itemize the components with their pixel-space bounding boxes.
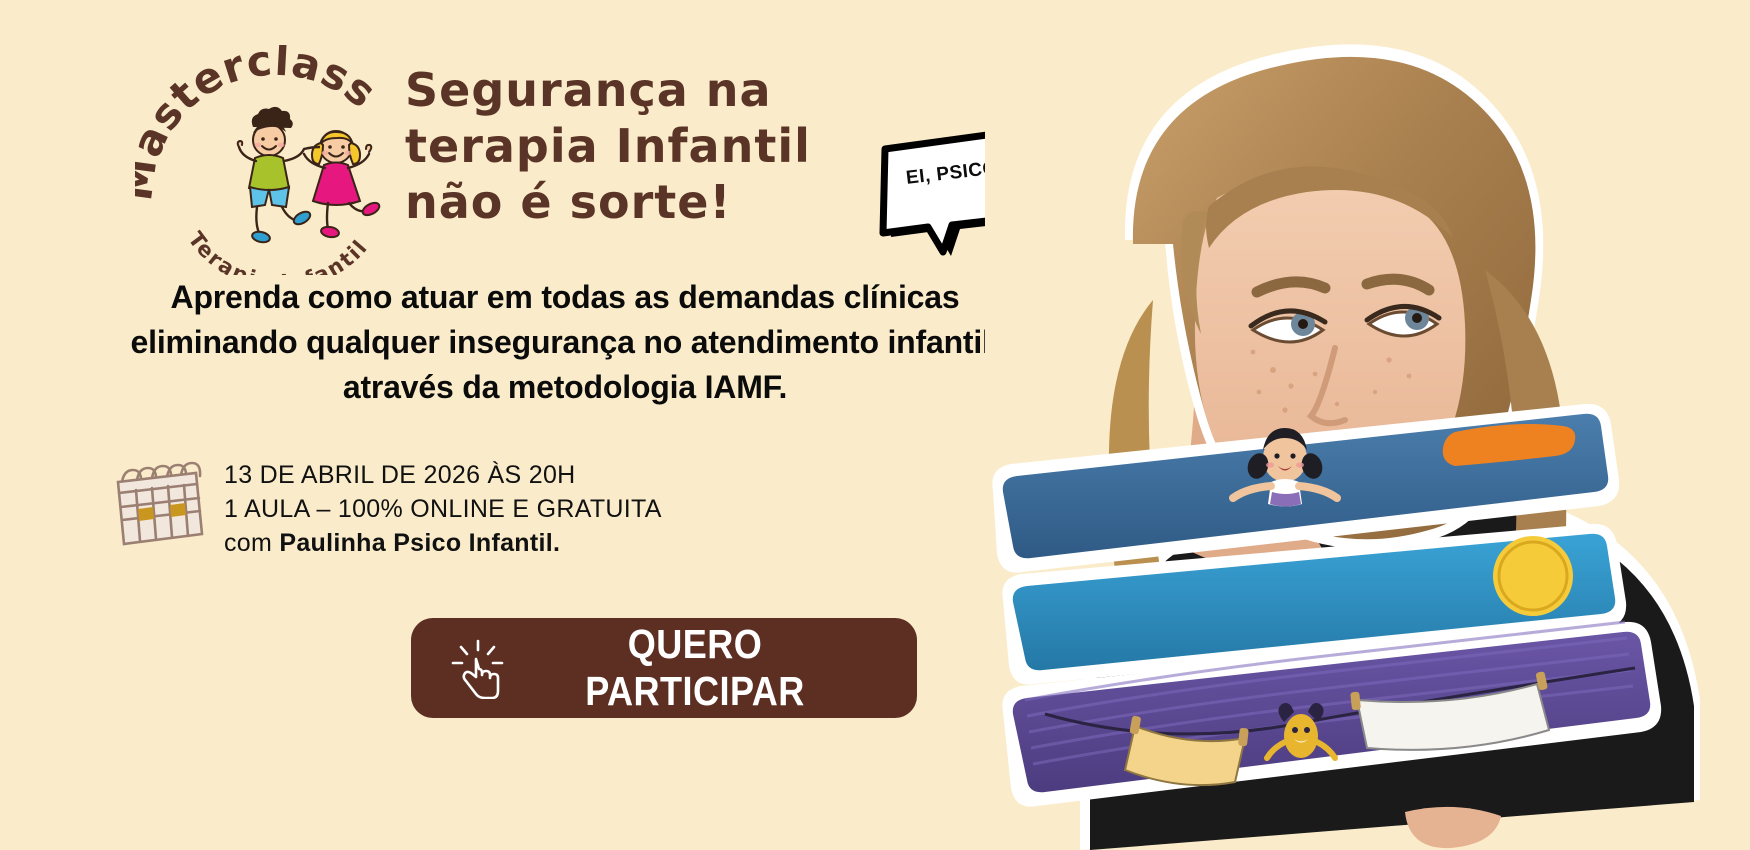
subheadline: Aprenda como atuar em todas as demandas …	[60, 275, 1070, 410]
headline-line-3: não é sorte!	[405, 174, 885, 230]
svg-text:Terapia Infantil: Terapia Infantil	[183, 227, 373, 275]
page-title: Segurança na terapia Infantil não é sort…	[405, 62, 885, 230]
promo-banner: Masterclass Terapia Infantil	[0, 0, 1750, 850]
event-host-prefix: com	[224, 529, 279, 557]
cta-label: QUERO PARTICIPAR	[530, 621, 861, 715]
click-hand-icon	[449, 637, 507, 699]
subhead-line-1: Aprenda como atuar em todas as demandas …	[60, 275, 1070, 320]
quero-participar-button[interactable]: QUERO PARTICIPAR	[411, 618, 917, 718]
subhead-line-2: eliminando qualquer insegurança no atend…	[60, 320, 1070, 365]
calendar-icon	[110, 460, 206, 550]
subhead-line-3: através da metodologia IAMF.	[60, 365, 1070, 410]
event-details: 13 DE ABRIL DE 2026 ÀS 20H 1 AULA – 100%…	[110, 452, 662, 560]
event-format: 1 AULA – 100% ONLINE E GRATUITA	[224, 492, 662, 526]
headline-line-1: Segurança na	[405, 62, 885, 118]
woman-holding-game-boxes: TENHAMODOS 5 a 10 anos Pontinhode Vista …	[985, 0, 1750, 850]
photo-illustration	[985, 0, 1750, 850]
event-host: com Paulinha Psico Infantil.	[224, 526, 662, 560]
event-text-block: 13 DE ABRIL DE 2026 ÀS 20H 1 AULA – 100%…	[224, 452, 662, 560]
masterclass-logo: Masterclass Terapia Infantil	[135, 45, 415, 275]
event-date: 13 DE ABRIL DE 2026 ÀS 20H	[224, 458, 662, 492]
headline-line-2: terapia Infantil	[405, 118, 885, 174]
event-host-name: Paulinha Psico Infantil.	[279, 529, 560, 557]
